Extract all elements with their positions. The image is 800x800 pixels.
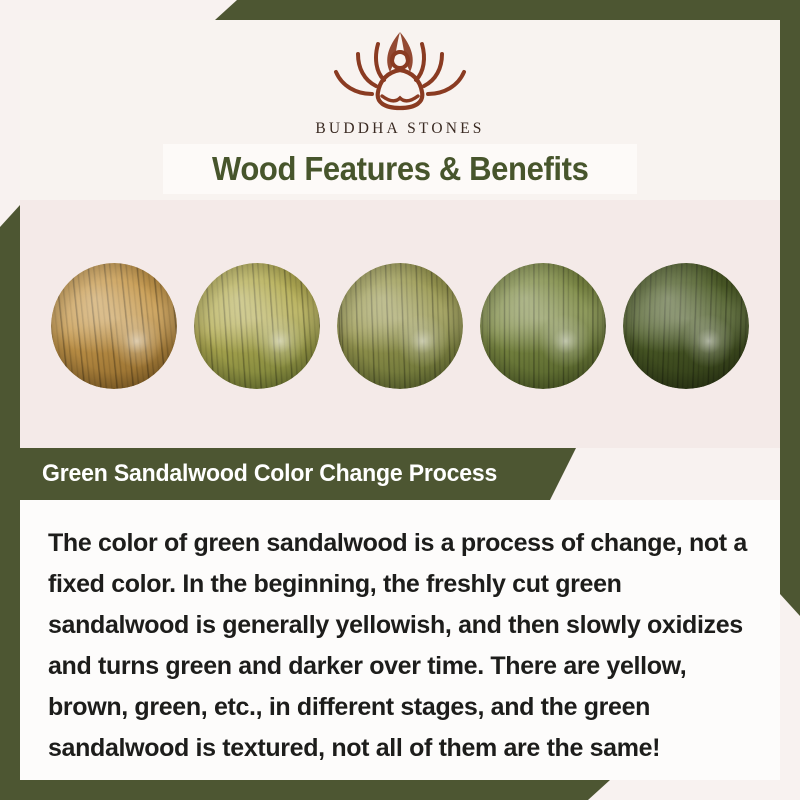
bead-stage-2 [194,263,320,389]
frame-bar-left [0,205,20,800]
frame-bar-bottom [0,780,610,800]
description-text: The color of green sandalwood is a proce… [48,523,754,769]
bead-stage-3 [337,263,463,389]
headline-box: Wood Features & Benefits [163,144,637,194]
bead-stage-4 [480,263,606,389]
description-paragraph: The color of green sandalwood is a proce… [48,523,754,769]
bead-highlight [194,263,320,389]
bead-gallery [20,252,780,400]
bead-highlight [337,263,463,389]
brand-name: BUDDHA STONES [0,120,800,138]
poster-root: BUDDHA STONES Wood Features & Benefits G… [0,0,800,800]
bead-highlight [51,263,177,389]
frame-bar-top [215,0,800,20]
bead-highlight [623,263,749,389]
bead-stage-5 [623,263,749,389]
page-title: Wood Features & Benefits [212,150,588,188]
section-banner: Green Sandalwood Color Change Process [20,448,576,500]
lotus-meditation-icon [300,22,500,116]
bead-stage-1 [51,263,177,389]
section-banner-title: Green Sandalwood Color Change Process [42,460,497,488]
bead-highlight [480,263,606,389]
brand-block: BUDDHA STONES [0,22,800,138]
